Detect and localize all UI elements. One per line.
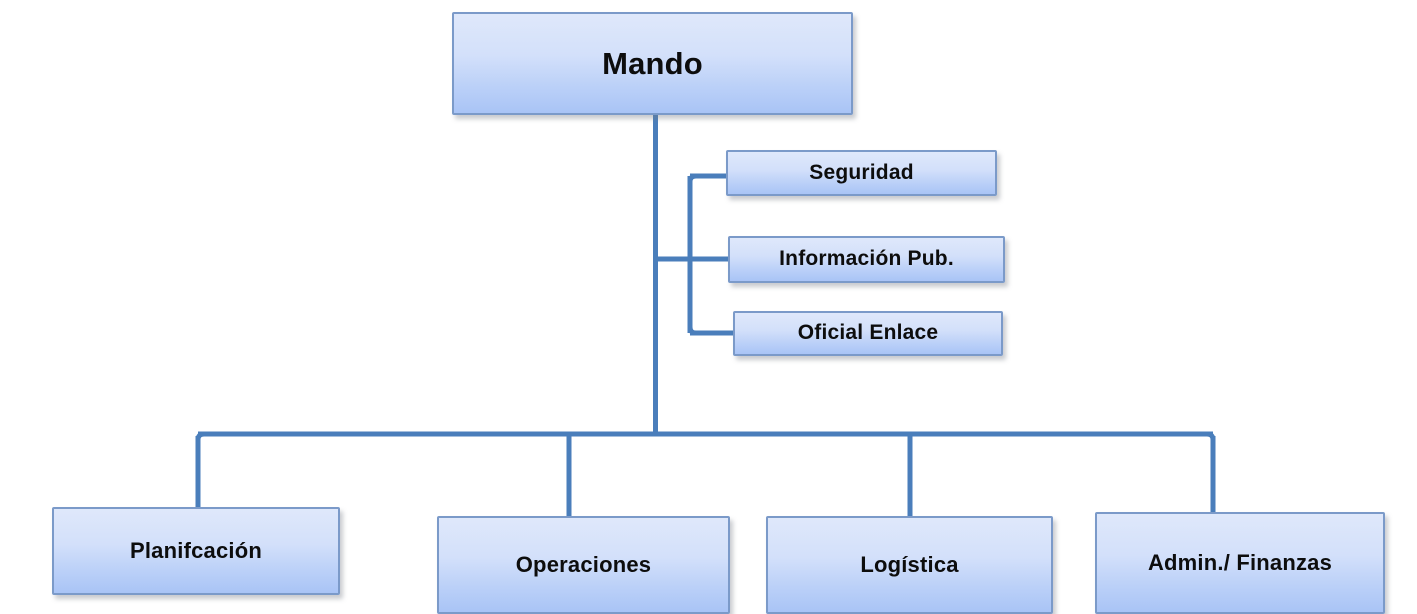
org-node-logistica[interactable]: Logística xyxy=(766,516,1053,614)
org-node-operaciones[interactable]: Operaciones xyxy=(437,516,730,614)
org-node-seguridad[interactable]: Seguridad xyxy=(726,150,997,196)
org-node-label: Oficial Enlace xyxy=(798,321,939,345)
staff-corner-top xyxy=(690,176,696,182)
org-node-planificacion[interactable]: Planifcación xyxy=(52,507,340,595)
bar-corner-right xyxy=(1207,434,1213,440)
org-node-label: Seguridad xyxy=(809,161,913,185)
org-node-informacion-publica[interactable]: Información Pub. xyxy=(728,236,1005,283)
org-node-label: Logística xyxy=(860,552,958,577)
org-node-root[interactable]: Mando xyxy=(452,12,853,115)
org-node-label: Operaciones xyxy=(516,552,651,577)
org-chart-canvas: Mando Seguridad Información Pub. Oficial… xyxy=(0,0,1417,614)
org-node-label: Planifcación xyxy=(130,538,262,563)
org-node-label: Información Pub. xyxy=(779,247,954,271)
staff-corner-bottom xyxy=(690,327,696,333)
bar-corner-left xyxy=(198,434,204,440)
org-node-oficial-enlace[interactable]: Oficial Enlace xyxy=(733,311,1003,356)
org-node-label: Admin./ Finanzas xyxy=(1148,550,1332,575)
org-node-label: Mando xyxy=(602,46,703,82)
org-node-admin-finanzas[interactable]: Admin./ Finanzas xyxy=(1095,512,1385,614)
